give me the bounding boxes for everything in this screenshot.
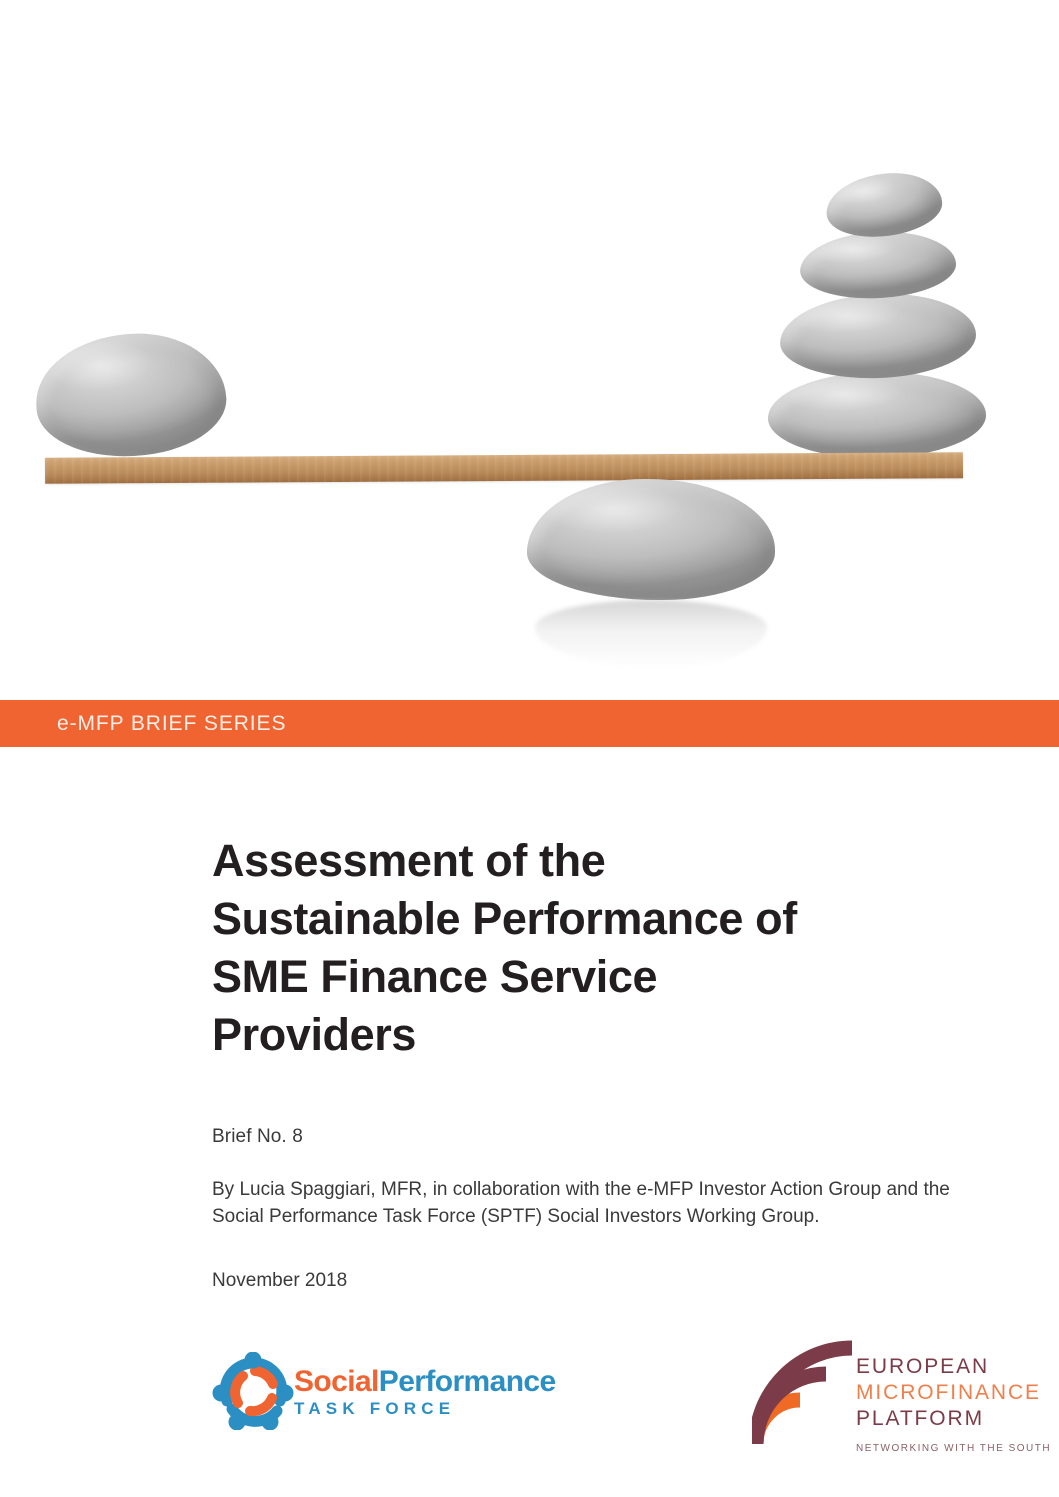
author-byline: By Lucia Spaggiari, MFR, in collaboratio… [212, 1176, 952, 1230]
sptf-name: SocialPerformance [294, 1366, 556, 1398]
sptf-name-performance: Performance [379, 1365, 556, 1398]
page-title: Assessment of the Sustainable Performanc… [212, 832, 852, 1064]
balance-stone-stack-top [823, 167, 946, 243]
publication-date: November 2018 [212, 1270, 972, 1292]
brief-number: Brief No. 8 [212, 1126, 972, 1148]
emfp-wordmark: EUROPEAN MICROFINANCE PLATFORM NETWORKIN… [856, 1354, 1051, 1454]
brief-series-banner: e-MFP BRIEF SERIES [0, 700, 1059, 747]
sptf-logo: SocialPerformance TASK FORCE [212, 1352, 542, 1430]
sptf-subtitle: TASK FORCE [294, 1399, 556, 1419]
cover-text-block: Assessment of the Sustainable Performanc… [212, 832, 972, 1292]
fulcrum-stone-reflection [535, 600, 767, 668]
sptf-name-social: Social [294, 1365, 379, 1398]
balance-stone-stack-bottom [767, 370, 986, 460]
sptf-wordmark: SocialPerformance TASK FORCE [294, 1366, 556, 1419]
cover-photo [0, 0, 1059, 700]
sptf-people-circle-icon [212, 1352, 294, 1430]
logo-row: SocialPerformance TASK FORCE EUROPEAN MI… [0, 1330, 1059, 1460]
emfp-line-platform: PLATFORM [856, 1406, 1051, 1432]
emfp-logo: EUROPEAN MICROFINANCE PLATFORM NETWORKIN… [752, 1340, 1027, 1458]
balance-stone-left [33, 329, 229, 461]
emfp-tagline: NETWORKING WITH THE SOUTH [856, 1443, 1051, 1454]
emfp-arcs-icon [752, 1340, 862, 1448]
emfp-line-microfinance: MICROFINANCE [856, 1380, 1051, 1406]
balance-stone-stack-third [779, 291, 978, 382]
brief-series-label: e-MFP BRIEF SERIES [57, 712, 286, 736]
wooden-plank [45, 452, 963, 484]
balance-stone-stack-second [798, 228, 957, 302]
emfp-line-european: EUROPEAN [856, 1354, 1051, 1380]
fulcrum-stone [527, 479, 775, 600]
